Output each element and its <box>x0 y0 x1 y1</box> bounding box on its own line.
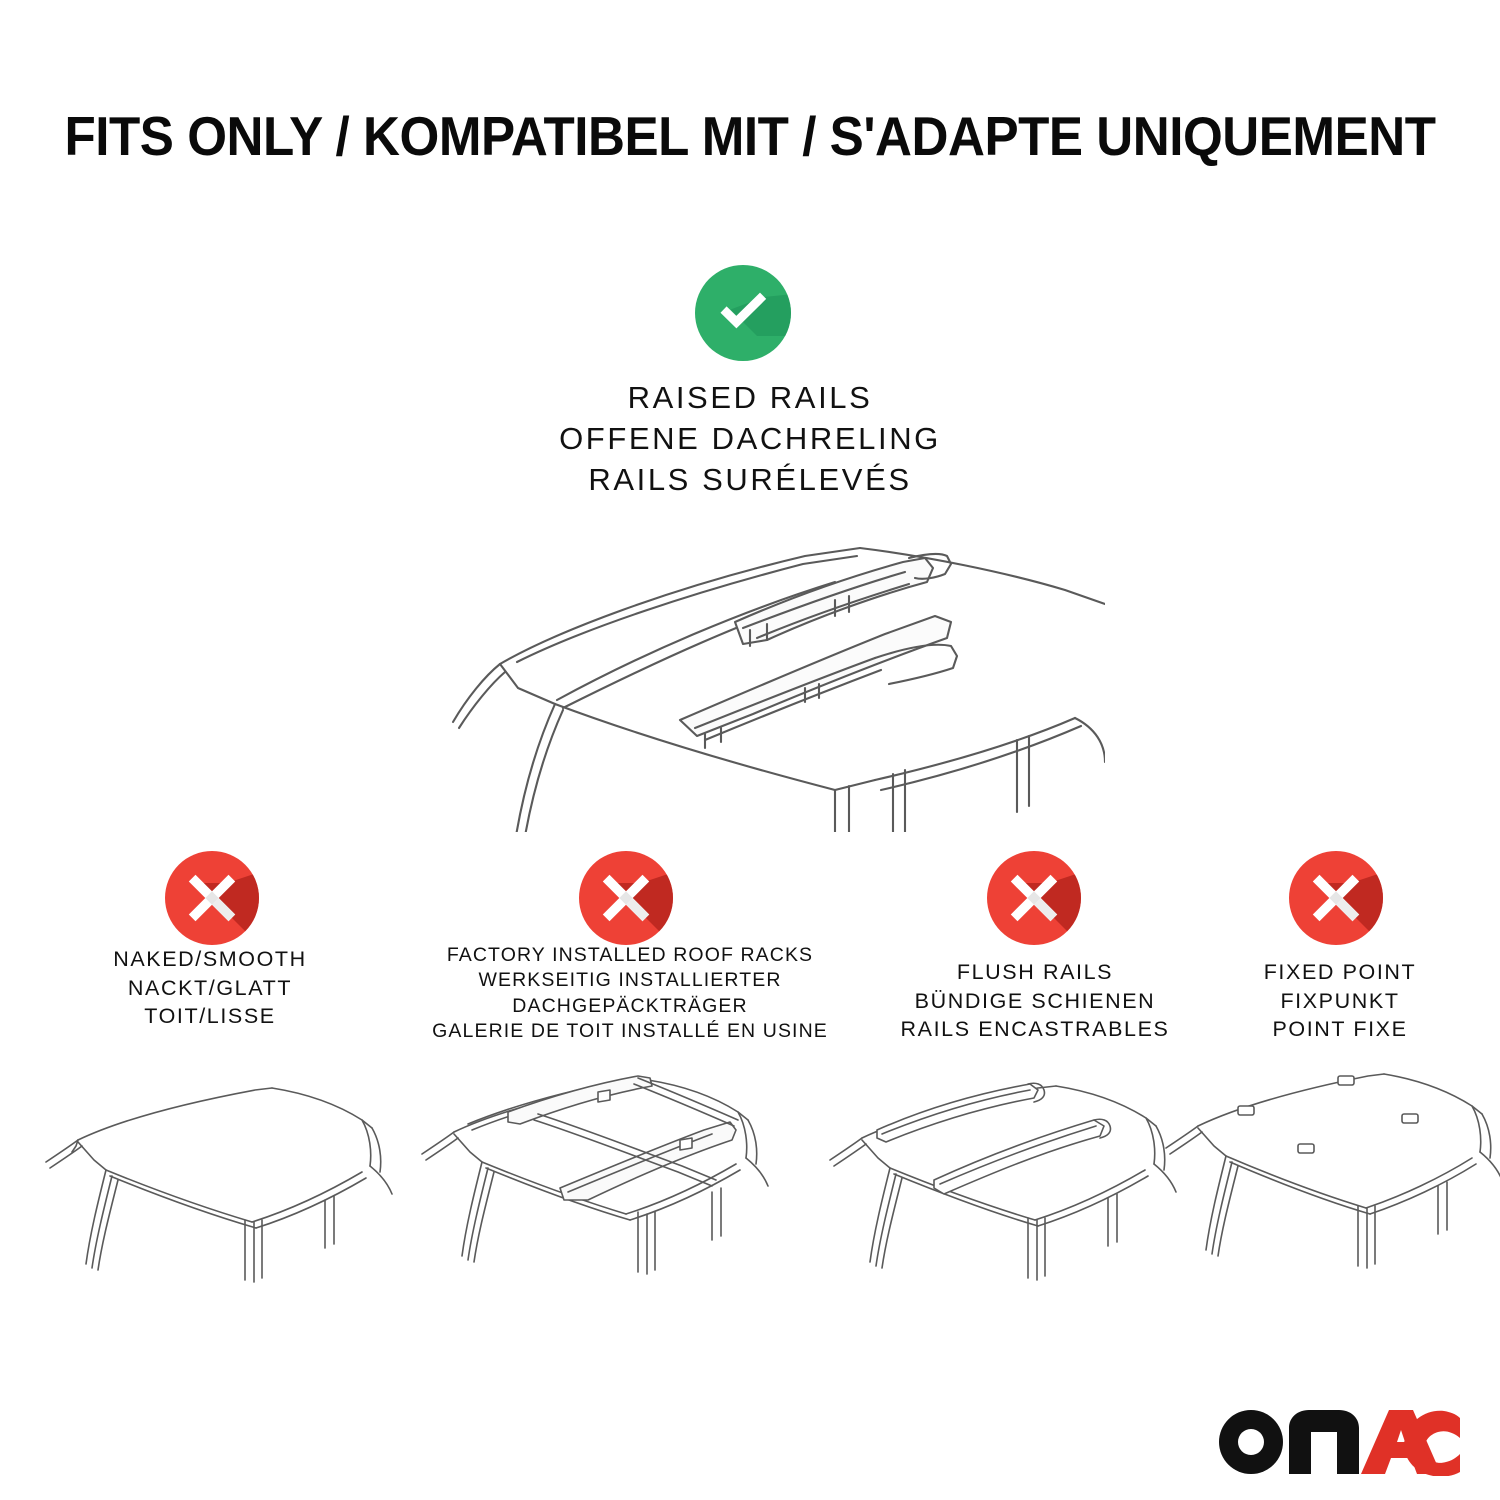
car-roof-flush-rails-illustration <box>822 1062 1212 1312</box>
x-circle-icon <box>1288 850 1384 946</box>
omac-logo <box>1215 1398 1460 1476</box>
incompatible-2-line-2: WERKSEITIG INSTALLIERTER <box>395 968 865 993</box>
incompatible-caption-1: NAKED/SMOOTH NACKT/GLATT TOIT/LISSE <box>20 945 400 1031</box>
car-roof-factory-roof-racks-illustration <box>412 1060 812 1310</box>
fitment-infographic: FITS ONLY / KOMPATIBEL MIT / S'ADAPTE UN… <box>0 0 1500 1500</box>
logo-letter-o <box>1219 1410 1283 1474</box>
incompatible-2-line-3: DACHGEPÄCKTRÄGER <box>395 994 865 1019</box>
compatible-line-2: OFFENE DACHRELING <box>250 419 1250 460</box>
car-roof-naked-smooth-illustration <box>40 1062 430 1312</box>
x-circle-icon <box>164 850 260 946</box>
incompatible-1-line-2: NACKT/GLATT <box>20 974 400 1003</box>
incompatible-1-line-3: TOIT/LISSE <box>20 1002 400 1031</box>
compatible-line-3: RAILS SURÉLEVÉS <box>250 460 1250 501</box>
compatible-line-1: RAISED RAILS <box>250 378 1250 419</box>
check-circle-icon <box>694 264 792 362</box>
x-circle-icon <box>578 850 674 946</box>
incompatible-4-line-3: POINT FIXE <box>1190 1015 1490 1044</box>
incompatible-3-line-3: RAILS ENCASTRABLES <box>855 1015 1215 1044</box>
incompatible-1-line-1: NAKED/SMOOTH <box>20 945 400 974</box>
incompatible-4-line-1: FIXED POINT <box>1190 958 1490 987</box>
logo-letter-m <box>1289 1410 1359 1474</box>
incompatible-2-line-1: FACTORY INSTALLED ROOF RACKS <box>395 943 865 968</box>
car-roof-fixed-point-illustration <box>1162 1060 1500 1310</box>
incompatible-caption-2: FACTORY INSTALLED ROOF RACKS WERKSEITIG … <box>395 943 865 1044</box>
incompatible-4-line-2: FIXPUNKT <box>1190 987 1490 1016</box>
incompatible-3-line-2: BÜNDIGE SCHIENEN <box>855 987 1215 1016</box>
car-roof-raised-rails-illustration <box>405 512 1105 832</box>
incompatible-caption-3: FLUSH RAILS BÜNDIGE SCHIENEN RAILS ENCAS… <box>855 958 1215 1044</box>
incompatible-caption-4: FIXED POINT FIXPUNKT POINT FIXE <box>1190 958 1490 1044</box>
x-circle-icon <box>986 850 1082 946</box>
incompatible-3-line-1: FLUSH RAILS <box>855 958 1215 987</box>
page-title: FITS ONLY / KOMPATIBEL MIT / S'ADAPTE UN… <box>53 104 1448 168</box>
incompatible-2-line-4: GALERIE DE TOIT INSTALLÉ EN USINE <box>395 1019 865 1044</box>
compatible-caption: RAISED RAILS OFFENE DACHRELING RAILS SUR… <box>250 378 1250 501</box>
